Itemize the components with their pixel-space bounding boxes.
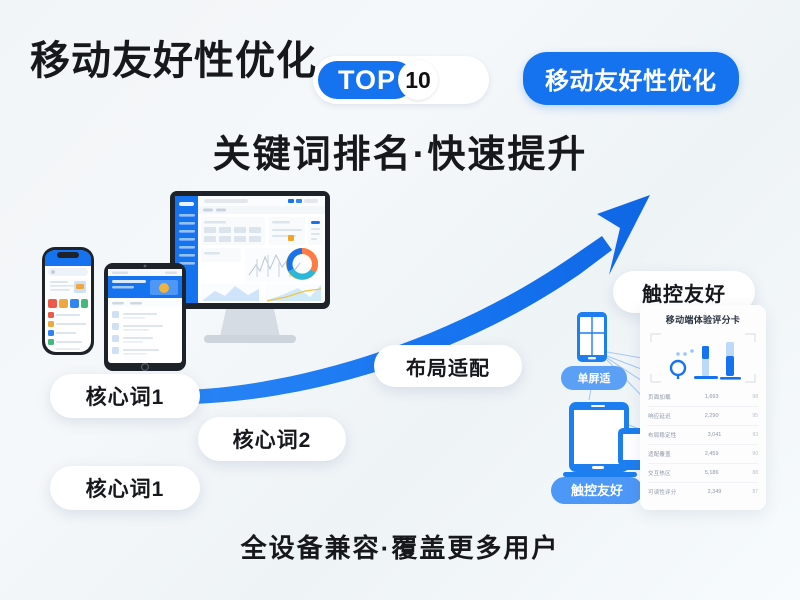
row-label: 适配覆盖 bbox=[648, 450, 671, 458]
row-label: 页面加载 bbox=[648, 393, 671, 401]
row-score: 87 bbox=[752, 489, 758, 495]
table-row: 布局稳定性 3,041 93 bbox=[648, 426, 758, 445]
row-label: 响应延迟 bbox=[648, 412, 671, 420]
row-label: 可读性评分 bbox=[648, 488, 677, 496]
row-value: 3,041 bbox=[708, 432, 722, 438]
top-label: TOP bbox=[338, 67, 396, 94]
bottom-caption: 全设备兼容·覆盖更多用户 bbox=[0, 528, 800, 565]
page-title: 移动友好性优化 bbox=[30, 28, 317, 86]
top-rank-badge: TOP 10 bbox=[313, 56, 489, 104]
desktop-monitor-icon bbox=[170, 191, 330, 343]
table-row: 交互热区 5,186 88 bbox=[648, 464, 758, 483]
row-score: 98 bbox=[752, 394, 758, 400]
row-value: 2,459 bbox=[705, 451, 719, 457]
row-score: 90 bbox=[752, 451, 758, 457]
table-row: 可读性评分 2,349 87 bbox=[648, 483, 758, 501]
row-label: 布局稳定性 bbox=[648, 431, 677, 439]
tablet-icon bbox=[104, 263, 186, 371]
row-value: 2,349 bbox=[708, 489, 722, 495]
diagram-badge-single-screen-label: 单屏适 bbox=[578, 371, 611, 385]
scorecard-panel: 移动端体验评分卡 bbox=[640, 305, 766, 510]
row-value: 2,290 bbox=[705, 413, 719, 419]
row-label: 交互热区 bbox=[648, 469, 671, 477]
row-score: 93 bbox=[752, 432, 758, 438]
table-row: 适配覆盖 2,459 90 bbox=[648, 445, 758, 464]
diagram-phone-top-icon bbox=[577, 312, 607, 362]
header-chip: 移动友好性优化 bbox=[523, 52, 739, 105]
table-row: 响应延迟 2,290 95 bbox=[648, 407, 758, 426]
row-value: 1,693 bbox=[705, 394, 719, 400]
diagram-badge-touch-label: 触控友好 bbox=[570, 483, 623, 498]
scorecard-rows: 页面加载 1,693 98 响应延迟 2,290 95 布局稳定性 3,041 … bbox=[648, 388, 758, 501]
diagram-badge-touch: 触控友好 bbox=[551, 477, 643, 504]
diagram-badge-single-screen: 单屏适 bbox=[561, 366, 627, 390]
top-number: 10 bbox=[405, 69, 431, 92]
keyword-pill-3: 核心词1 bbox=[50, 466, 200, 510]
row-score: 95 bbox=[752, 413, 758, 419]
header-chip-label: 移动友好性优化 bbox=[545, 68, 717, 95]
page-subtitle: 关键词排名·快速提升 bbox=[0, 123, 800, 178]
table-row: 页面加载 1,693 98 bbox=[648, 388, 758, 407]
keyword-pill-1: 核心词1 bbox=[50, 374, 200, 418]
scorecard-chart bbox=[648, 330, 758, 386]
scorecard-title: 移动端体验评分卡 bbox=[640, 313, 766, 326]
device-mockups bbox=[20, 185, 330, 395]
keyword-pill-2: 核心词2 bbox=[198, 417, 346, 461]
row-score: 88 bbox=[752, 470, 758, 476]
row-value: 5,186 bbox=[705, 470, 719, 476]
top-number-circle: 10 bbox=[398, 60, 438, 100]
feature-pill-layout: 布局适配 bbox=[374, 345, 522, 387]
poster-stage: 移动友好性优化 TOP 10 移动友好性优化 关键词排名·快速提升 核心词1 核… bbox=[0, 0, 800, 600]
smartphone-icon bbox=[42, 247, 94, 355]
